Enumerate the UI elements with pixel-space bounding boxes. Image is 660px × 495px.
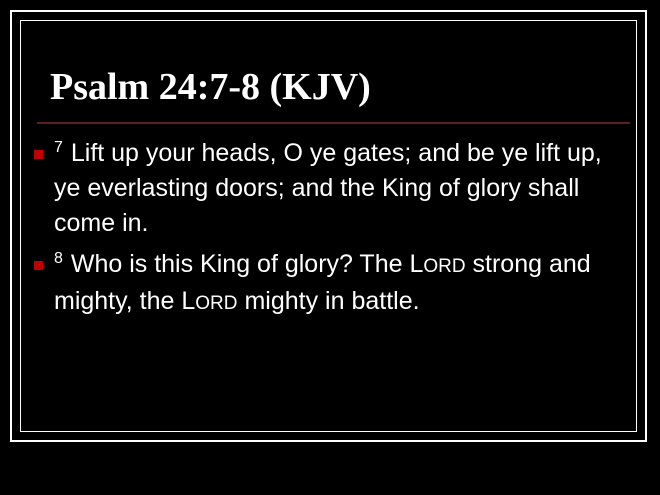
lord-smallcaps-1: ORD [423, 256, 465, 277]
lord-smallcaps-2: ORD [195, 293, 237, 314]
bullet-item-verse-8: 8 Who is this King of glory? The LORD st… [30, 247, 632, 321]
verse-number-8: 8 [54, 250, 64, 267]
square-bullet-icon [34, 261, 43, 270]
slide-canvas: Psalm 24:7-8 (KJV) 7 Lift up your heads,… [0, 0, 660, 495]
lord-capital-2: L [181, 287, 195, 315]
lord-capital-1: L [409, 250, 423, 278]
verse-8-segment-3: mighty in battle. [238, 287, 420, 315]
slide-body: 7 Lift up your heads, O ye gates; and be… [30, 136, 632, 327]
verse-7-text: Lift up your heads, O ye gates; and be y… [54, 139, 602, 237]
bullet-item-verse-7: 7 Lift up your heads, O ye gates; and be… [30, 136, 632, 241]
verse-8-segment-1: Who is this King of glory? The [71, 250, 410, 278]
slide-title: Psalm 24:7-8 (KJV) [50, 64, 630, 110]
verse-number-7: 7 [54, 139, 64, 156]
square-bullet-icon [34, 150, 43, 159]
title-divider [37, 122, 630, 124]
